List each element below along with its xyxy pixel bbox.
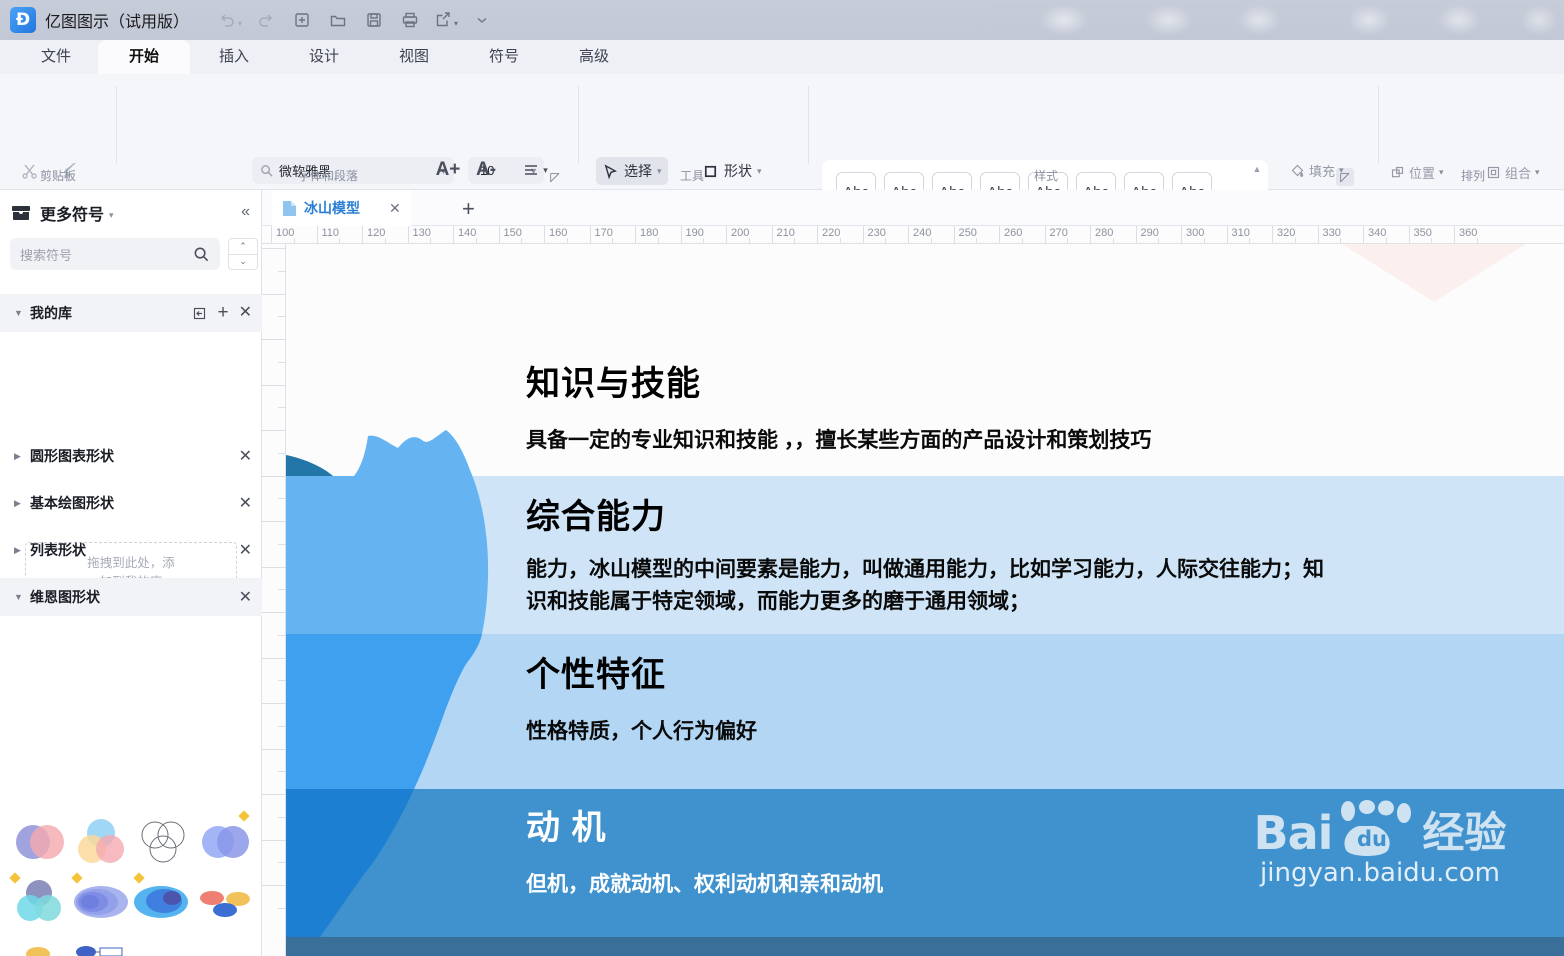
close-icon[interactable]: ✕ bbox=[389, 200, 401, 217]
ruler-tick-label: 180 bbox=[640, 227, 658, 239]
ruler-tick: -380 bbox=[262, 294, 286, 295]
tab-design[interactable]: 设计 bbox=[278, 40, 370, 74]
tab-view[interactable]: 视图 bbox=[368, 40, 460, 74]
group-label-tools: 工具 bbox=[586, 167, 798, 184]
ruler-tick: 200 bbox=[726, 226, 727, 244]
ruler-tick: -330 bbox=[262, 521, 286, 522]
tab-file[interactable]: 文件 bbox=[10, 40, 102, 74]
ruler-tick: 290 bbox=[1136, 226, 1137, 244]
ruler-half-tick bbox=[278, 680, 286, 681]
ruler-tick-label: -300 bbox=[262, 678, 265, 700]
ribbon-group-tools: 选择▾ 形状▾ 文本 连接线▾ 工具 bbox=[586, 74, 798, 190]
ribbon-tab-bar: 文件 开始 插入 设计 视图 符号 高级 bbox=[0, 40, 1564, 74]
category-list-shapes[interactable]: ▶ 列表形状 ✕ bbox=[0, 531, 262, 569]
baidu-url: jingyan.baidu.com bbox=[1260, 858, 1500, 888]
export-button[interactable]: ▾ bbox=[429, 5, 463, 35]
baidu-brand-cn: 经验 bbox=[1422, 810, 1506, 856]
ruler-tick-label: 340 bbox=[1368, 227, 1386, 239]
ruler-tick-label: 360 bbox=[1459, 227, 1477, 239]
undo-button[interactable]: ▾ bbox=[213, 5, 247, 35]
ruler-tick-label: 320 bbox=[1277, 227, 1295, 239]
tab-insert[interactable]: 插入 bbox=[188, 40, 280, 74]
ruler-half-tick bbox=[278, 635, 286, 636]
close-library-icon[interactable]: ✕ bbox=[239, 540, 252, 560]
ruler-tick: -300 bbox=[262, 658, 286, 659]
ribbon-group-arrange: 位置▾ 组合▾ 对齐▾ 大小▾ 排列 bbox=[1382, 74, 1564, 190]
ruler-tick-label: -290 bbox=[262, 724, 265, 746]
chevron-down-icon: ▼ bbox=[14, 308, 30, 318]
ruler-tick: 330 bbox=[1318, 226, 1319, 244]
ruler-tick-label: 250 bbox=[959, 227, 977, 239]
ruler-tick: 360 bbox=[1454, 226, 1455, 244]
chevron-down-icon[interactable]: ▾ bbox=[109, 210, 114, 221]
category-label: 我的库 bbox=[30, 303, 192, 323]
section-body-line: 性格特质，个人行为偏好 bbox=[526, 716, 757, 748]
collapse-panel-icon[interactable]: « bbox=[241, 203, 250, 221]
shape-three-circle-venn[interactable] bbox=[70, 812, 132, 872]
category-my-library[interactable]: ▼ 我的库 + ✕ bbox=[0, 294, 262, 332]
ruler-tick-label: 230 bbox=[868, 227, 886, 239]
iceberg-middle bbox=[286, 634, 482, 789]
ruler-tick-label: 140 bbox=[458, 227, 476, 239]
close-library-icon[interactable]: ✕ bbox=[239, 493, 252, 513]
iceberg-lower bbox=[286, 789, 414, 937]
fill-label: 填充 bbox=[1309, 161, 1335, 180]
ruler-tick-label: 220 bbox=[822, 227, 840, 239]
ruler-half-tick bbox=[278, 726, 286, 727]
ruler-half-tick bbox=[278, 271, 286, 272]
ruler-tick: 100 bbox=[271, 226, 272, 244]
search-next-icon[interactable]: ⌄ bbox=[228, 254, 258, 271]
ruler-tick: 270 bbox=[1045, 226, 1046, 244]
ruler-tick: -260 bbox=[262, 840, 286, 841]
fill-icon bbox=[1290, 163, 1305, 178]
fill-button[interactable]: 填充▾ bbox=[1290, 158, 1344, 182]
ruler-tick: 340 bbox=[1363, 226, 1364, 244]
close-library-icon[interactable]: ✕ bbox=[239, 306, 252, 320]
ruler-tick-label: -390 bbox=[262, 269, 265, 291]
tab-home[interactable]: 开始 bbox=[98, 40, 190, 74]
ruler-tick: 220 bbox=[817, 226, 818, 244]
shape-disc-list-venn[interactable] bbox=[70, 932, 132, 956]
ruler-tick: 260 bbox=[999, 226, 1000, 244]
ruler-tick-label: 270 bbox=[1050, 227, 1068, 239]
ruler-tick-label: 190 bbox=[686, 227, 704, 239]
quick-access-toolbar: ▾ ▾ bbox=[213, 5, 499, 35]
ruler-tick-label: 120 bbox=[367, 227, 385, 239]
ruler-tick-label: -280 bbox=[262, 769, 265, 791]
chevron-right-icon: ▶ bbox=[14, 451, 30, 462]
symbol-library-panel: 更多符号 ▾ « 搜索符号 ⌃ ⌄ ▼ 我的库 + ✕ bbox=[0, 190, 262, 956]
ruler-tick: 230 bbox=[863, 226, 864, 244]
library-icon bbox=[10, 202, 32, 224]
ruler-tick: -270 bbox=[262, 794, 286, 795]
import-library-icon[interactable] bbox=[192, 306, 207, 321]
ribbon-group-font: 微软雅黑 ▼ 10 ▼ A+ A- ▾ B I U S X² X₂ ▾ bbox=[118, 74, 568, 190]
baidu-paw-icon: du bbox=[1334, 800, 1420, 856]
ruler-tick: 130 bbox=[408, 226, 409, 244]
ribbon-group-styles: Abc Abc Abc Abc Abc Abc Abc Abc ▲ ▼ ▼ 样式… bbox=[812, 74, 1280, 190]
ruler-tick-label: -350 bbox=[262, 451, 265, 473]
ruler-tick-label: 350 bbox=[1414, 227, 1432, 239]
ribbon: ▾ 剪贴板 微软雅黑 ▼ 10 ▼ A+ A- ▾ bbox=[0, 74, 1564, 190]
ruler-tick: 110 bbox=[317, 226, 318, 244]
baidu-logo-row: Bai du 经验 bbox=[1254, 800, 1507, 856]
shape-three-circle-labeled-venn[interactable] bbox=[8, 872, 70, 932]
ruler-tick: -390 bbox=[262, 248, 286, 249]
ruler-tick: -250 bbox=[262, 885, 286, 886]
ruler-tick: 300 bbox=[1181, 226, 1182, 244]
category-circular-chart-shapes[interactable]: ▶ 圆形图表形状 ✕ bbox=[0, 437, 262, 475]
print-button[interactable] bbox=[393, 5, 427, 35]
close-library-icon[interactable]: ✕ bbox=[239, 446, 252, 466]
ruler-tick-label: 330 bbox=[1323, 227, 1341, 239]
iceberg-upper bbox=[286, 430, 488, 634]
section-heading: 个性特征 bbox=[526, 647, 757, 696]
new-document-tab-button[interactable]: + bbox=[462, 196, 475, 222]
close-library-icon[interactable]: ✕ bbox=[239, 587, 252, 607]
app-title: 亿图图示（试用版） bbox=[45, 8, 189, 32]
group-label-font: 字体和段落 bbox=[118, 167, 538, 184]
symbol-panel-title: 更多符号 bbox=[40, 201, 104, 225]
group-label-arrange: 排列 bbox=[1382, 167, 1564, 184]
ruler-tick: 350 bbox=[1409, 226, 1410, 244]
group-label-clipboard: 剪贴板 bbox=[0, 167, 116, 184]
add-library-icon[interactable]: + bbox=[217, 306, 228, 320]
category-basic-drawing-shapes[interactable]: ▶ 基本绘图形状 ✕ bbox=[0, 484, 262, 522]
category-label: 列表形状 bbox=[30, 540, 239, 560]
document-icon bbox=[282, 200, 297, 217]
iceberg-peak bbox=[286, 455, 333, 476]
ruler-tick: -290 bbox=[262, 703, 286, 704]
ruler-tick-label: 310 bbox=[1232, 227, 1250, 239]
shape-concentric-oval-venn[interactable] bbox=[132, 872, 194, 932]
symbol-search-row: 搜索符号 ⌃ ⌄ bbox=[10, 238, 258, 270]
ruler-half-tick bbox=[278, 453, 286, 454]
ruler-tick-label: -380 bbox=[262, 314, 265, 336]
new-button[interactable] bbox=[285, 5, 319, 35]
ruler-tick-label: 280 bbox=[1095, 227, 1113, 239]
search-nav-stepper[interactable]: ⌃ ⌄ bbox=[228, 238, 258, 270]
chevron-down-icon: ▼ bbox=[14, 592, 30, 602]
ruler-tick: 250 bbox=[954, 226, 955, 244]
redo-button[interactable] bbox=[249, 5, 283, 35]
ruler-tick: 320 bbox=[1272, 226, 1273, 244]
decorative-triangle bbox=[1342, 244, 1526, 302]
ruler-tick: 190 bbox=[681, 226, 682, 244]
ruler-tick-label: 160 bbox=[549, 227, 567, 239]
tab-advanced[interactable]: 高级 bbox=[548, 40, 640, 74]
ruler-half-tick bbox=[278, 771, 286, 772]
ruler-tick-label: -320 bbox=[262, 587, 265, 609]
shape-two-circle-venn[interactable] bbox=[8, 812, 70, 872]
venn-shape-grid bbox=[8, 812, 258, 956]
ruler-tick-label: -370 bbox=[262, 360, 265, 382]
ruler-tick-label: 240 bbox=[913, 227, 931, 239]
vertical-ruler[interactable]: -390-380-370-360-350-340-330-320-310-300… bbox=[262, 244, 286, 956]
shape-stacked-disc-venn[interactable] bbox=[8, 932, 70, 956]
category-label: 基本绘图形状 bbox=[30, 493, 239, 513]
shape-three-disc-venn[interactable] bbox=[194, 872, 256, 932]
ruler-tick: 120 bbox=[362, 226, 363, 244]
ruler-tick-label: 130 bbox=[413, 227, 431, 239]
ruler-tick-label: 290 bbox=[1141, 227, 1159, 239]
ruler-tick: 240 bbox=[908, 226, 909, 244]
save-button[interactable] bbox=[357, 5, 391, 35]
section-motivation[interactable]: 动 机 但机，成就动机、权利动机和亲和动机 bbox=[526, 800, 883, 901]
ruler-half-tick bbox=[278, 362, 286, 363]
section-body-line: 能力，冰山模型的中间要素是能力，叫做通用能力，比如学习能力，人际交往能力；知 bbox=[526, 554, 1324, 586]
chevron-right-icon: ▶ bbox=[14, 498, 30, 509]
document-tab[interactable]: 冰山模型 ✕ bbox=[272, 190, 411, 226]
ruler-tick: -360 bbox=[262, 385, 286, 386]
search-placeholder: 搜索符号 bbox=[20, 245, 193, 264]
section-knowledge[interactable]: 知识与技能 具备一定的专业知识和技能 ，，擅长某些方面的产品设计和策划技巧 bbox=[526, 356, 1151, 457]
ruler-tick-label: -270 bbox=[262, 815, 265, 837]
ruler-tick: -340 bbox=[262, 476, 286, 477]
shape-outline-venn[interactable] bbox=[132, 812, 194, 872]
category-label: 圆形图表形状 bbox=[30, 446, 239, 466]
tab-symbols[interactable]: 符号 bbox=[458, 40, 550, 74]
search-input[interactable]: 搜索符号 bbox=[10, 238, 220, 270]
baidu-brand-latin: Bai bbox=[1254, 810, 1333, 856]
section-heading: 综合能力 bbox=[526, 489, 1324, 538]
shape-two-circle-labeled-venn[interactable] bbox=[194, 812, 256, 872]
diagram-canvas[interactable]: 知识与技能 具备一定的专业知识和技能 ，，擅长某些方面的产品设计和策划技巧 综合… bbox=[286, 244, 1564, 956]
ribbon-group-format: 填充▾ 线条▾ 阴影▾ bbox=[1282, 74, 1378, 190]
ruler-tick-label: 260 bbox=[1004, 227, 1022, 239]
window-controls-blurred-region bbox=[984, 0, 1564, 40]
horizontal-ruler[interactable]: 1001101201301401501601701801902002102202… bbox=[262, 226, 1564, 244]
font-dialog-launcher[interactable]: ◸ bbox=[546, 168, 564, 186]
document-tab-strip: 冰山模型 ✕ + bbox=[262, 190, 1564, 226]
ruler-tick-label: -310 bbox=[262, 633, 265, 655]
document-tab-label: 冰山模型 bbox=[304, 198, 360, 218]
section-heading: 知识与技能 bbox=[526, 356, 1151, 405]
ruler-tick: -320 bbox=[262, 567, 286, 568]
baidu-watermark: Bai du 经验 jingyan.baidu.com bbox=[1224, 800, 1536, 888]
symbol-panel-header: 更多符号 ▾ « bbox=[0, 190, 262, 236]
category-label: 维恩图形状 bbox=[30, 587, 239, 607]
ruler-tick: 180 bbox=[635, 226, 636, 244]
ruler-tick: -350 bbox=[262, 430, 286, 431]
ruler-tick: 150 bbox=[499, 226, 500, 244]
ribbon-group-clipboard: ▾ 剪贴板 bbox=[0, 74, 116, 190]
search-icon bbox=[193, 246, 210, 263]
more-qat-button[interactable] bbox=[465, 5, 499, 35]
ruler-tick-label: -360 bbox=[262, 405, 265, 427]
section-personality[interactable]: 个性特征 性格特质，个人行为偏好 bbox=[526, 647, 757, 748]
ruler-half-tick bbox=[278, 316, 286, 317]
app-logo: Ð bbox=[10, 7, 36, 33]
ruler-half-tick bbox=[278, 862, 286, 863]
ruler-half-tick bbox=[278, 498, 286, 499]
ruler-tick-label: 210 bbox=[777, 227, 795, 239]
baidu-brand-du: du bbox=[1357, 827, 1387, 851]
search-prev-icon[interactable]: ⌃ bbox=[228, 238, 258, 254]
ruler-tick-label: 170 bbox=[595, 227, 613, 239]
ruler-tick: -370 bbox=[262, 339, 286, 340]
ruler-tick-label: -330 bbox=[262, 542, 265, 564]
category-venn-shapes[interactable]: ▼ 维恩图形状 ✕ bbox=[0, 578, 262, 616]
section-body-line: 具备一定的专业知识和技能 ，，擅长某些方面的产品设计和策划技巧 bbox=[526, 425, 1151, 457]
ruler-tick: 210 bbox=[772, 226, 773, 244]
ruler-tick-label: -250 bbox=[262, 906, 265, 928]
ruler-tick-label: -340 bbox=[262, 496, 265, 518]
ruler-half-tick bbox=[278, 908, 286, 909]
section-body-line: 识和技能属于特定领域，而能力更多的磨于通用领域； bbox=[526, 586, 1324, 618]
chevron-right-icon: ▶ bbox=[14, 545, 30, 556]
ruler-tick-label: 100 bbox=[276, 227, 294, 239]
ruler-tick: 310 bbox=[1227, 226, 1228, 244]
ruler-tick-label: 200 bbox=[731, 227, 749, 239]
ruler-half-tick bbox=[278, 589, 286, 590]
ruler-half-tick bbox=[278, 544, 286, 545]
section-heading: 动 机 bbox=[526, 800, 883, 849]
group-label-styles: 样式 bbox=[812, 167, 1280, 184]
ruler-tick: 170 bbox=[590, 226, 591, 244]
ruler-tick-label: 110 bbox=[322, 227, 340, 239]
section-body-line: 但机，成就动机、权利动机和亲和动机 bbox=[526, 869, 883, 901]
ruler-tick-label: 300 bbox=[1186, 227, 1204, 239]
shape-nested-oval-venn[interactable] bbox=[70, 872, 132, 932]
ruler-tick: 280 bbox=[1090, 226, 1091, 244]
open-button[interactable] bbox=[321, 5, 355, 35]
ruler-half-tick bbox=[278, 817, 286, 818]
ruler-tick-label: 150 bbox=[504, 227, 522, 239]
ruler-tick: -280 bbox=[262, 749, 286, 750]
ruler-tick: 140 bbox=[453, 226, 454, 244]
section-ability[interactable]: 综合能力 能力，冰山模型的中间要素是能力，叫做通用能力，比如学习能力，人际交往能… bbox=[526, 489, 1324, 618]
ruler-half-tick bbox=[278, 407, 286, 408]
ruler-tick: -310 bbox=[262, 612, 286, 613]
ruler-tick: 160 bbox=[544, 226, 545, 244]
title-bar: Ð 亿图图示（试用版） ▾ ▾ bbox=[0, 0, 1564, 40]
ruler-tick-label: -260 bbox=[262, 860, 265, 882]
